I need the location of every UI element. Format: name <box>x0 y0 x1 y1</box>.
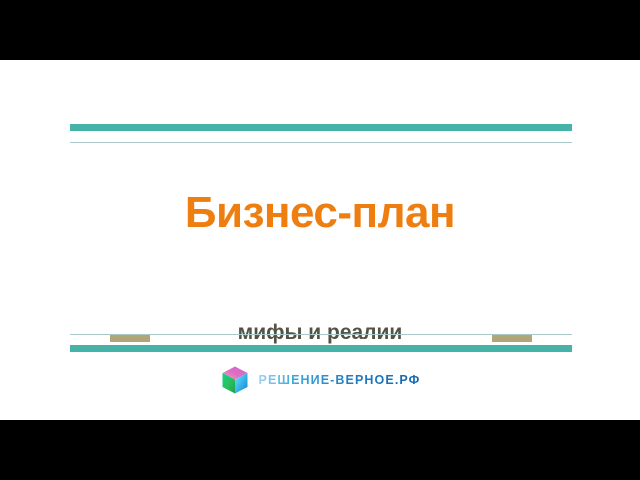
letterbox-bottom <box>0 420 640 480</box>
decorative-rule-bottom <box>70 334 572 352</box>
letterbox-top <box>0 0 640 60</box>
brand-lockup: РЕШЕНИЕ-ВЕРНОЕ.РФ <box>0 365 640 395</box>
rule-thin-top <box>70 142 572 143</box>
rule-gap-bottom <box>70 335 572 345</box>
cube-logo-icon <box>220 365 250 395</box>
slide-title: Бизнес-план <box>0 190 640 236</box>
title-block: Бизнес-план <box>0 190 640 236</box>
decorative-rule-top <box>70 124 572 143</box>
rule-thick-top <box>70 124 572 131</box>
presentation-slide: Бизнес-план мифы и реалии <box>0 60 640 420</box>
rule-thick-bottom <box>70 345 572 352</box>
video-viewport: Бизнес-план мифы и реалии <box>0 0 640 480</box>
brand-name: РЕШЕНИЕ-ВЕРНОЕ.РФ <box>259 374 421 387</box>
rule-gap-top <box>70 131 572 142</box>
